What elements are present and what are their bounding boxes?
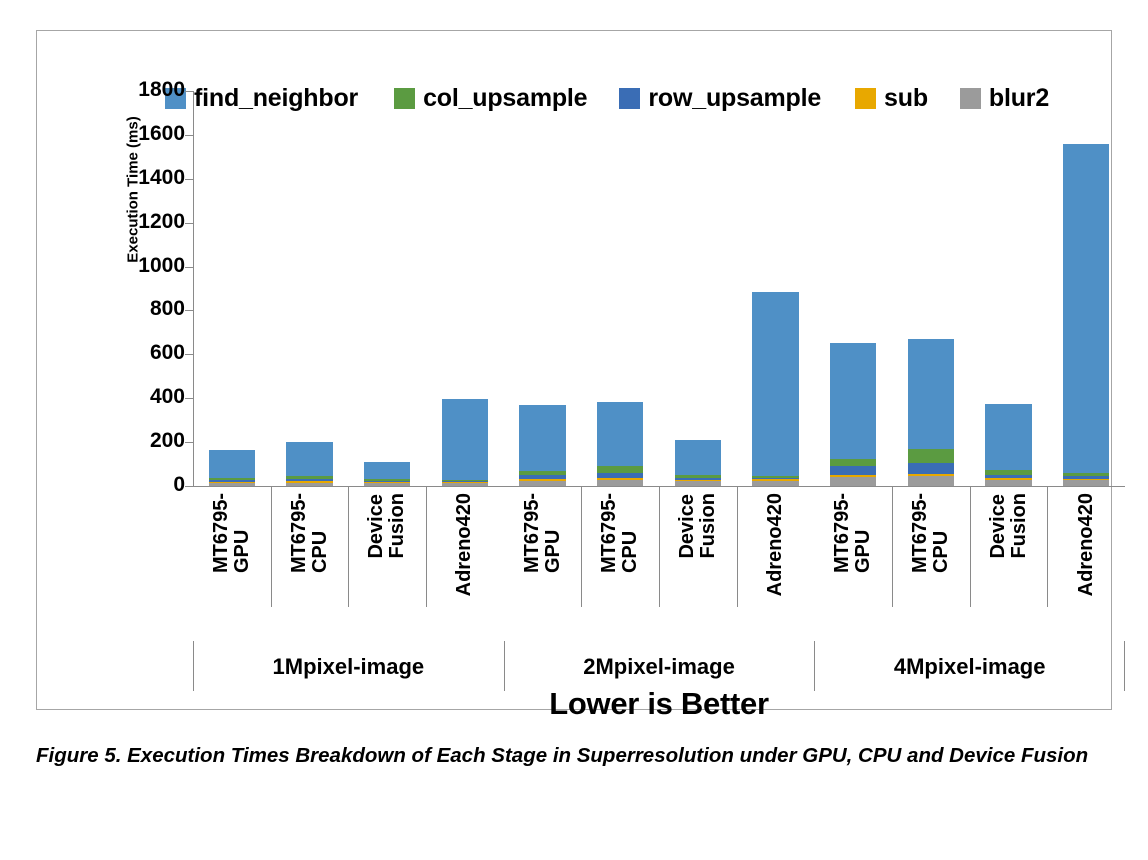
group-label-cell: 4Mpixel-image: [814, 642, 1125, 691]
group-labels-row: 1Mpixel-image2Mpixel-image4Mpixel-image: [193, 642, 1125, 691]
category-label: MT6795- GPU: [522, 493, 564, 573]
bar-segment-row-upsample: [830, 466, 877, 475]
category-separator: [1047, 487, 1048, 607]
bar-slot: [814, 91, 892, 486]
bar-segment-blur2: [209, 483, 256, 487]
category-separator: [271, 487, 272, 607]
bar-segment-find-neighbor: [364, 462, 411, 479]
bar-segment-blur2: [597, 480, 644, 486]
bar-group-4Mpixel-image: [814, 91, 1125, 486]
category-label: MT6795- CPU: [599, 493, 641, 573]
y-tick-mark: [185, 486, 193, 487]
y-tick-mark: [185, 135, 193, 136]
y-tick-mark: [185, 398, 193, 399]
category-separator: [426, 487, 427, 607]
y-tick-mark: [185, 310, 193, 311]
y-tick-mark: [185, 179, 193, 180]
category-group: MT6795- GPUMT6795- CPUDevice FusionAdren…: [504, 487, 815, 642]
bar-segment-find-neighbor: [985, 404, 1032, 470]
category-label: Device Fusion: [988, 493, 1030, 559]
category-separator: [659, 487, 660, 607]
y-tick-mark: [185, 267, 193, 268]
bar-slot: [504, 91, 582, 486]
y-tick-label: 800: [105, 297, 185, 321]
bar-slot: [426, 91, 504, 486]
category-label-cell: Device Fusion: [970, 487, 1048, 642]
bar-segment-find-neighbor: [830, 343, 877, 459]
bar-slot: [892, 91, 970, 486]
category-label-cell: MT6795- CPU: [581, 487, 659, 642]
category-label-cell: Adreno420: [737, 487, 815, 642]
y-tick-label: 400: [105, 385, 185, 409]
category-separator: [892, 487, 893, 607]
group-separator: [193, 641, 194, 691]
y-tick-mark: [185, 223, 193, 224]
plot-area: [193, 91, 1125, 486]
bar-groups: [193, 91, 1125, 486]
bar-segment-blur2: [286, 483, 333, 487]
y-tick-label: 200: [105, 429, 185, 453]
stacked-bar[interactable]: [364, 462, 411, 486]
category-label: Device Fusion: [366, 493, 408, 559]
stacked-bar[interactable]: [830, 343, 877, 486]
stacked-bar[interactable]: [519, 405, 566, 486]
category-label-cell: Adreno420: [1047, 487, 1125, 642]
stacked-bar[interactable]: [675, 440, 722, 486]
bar-segment-blur2: [442, 483, 489, 487]
figure-page: find_neighborcol_upsamplerow_upsamplesub…: [0, 0, 1148, 860]
y-tick-mark: [185, 91, 193, 92]
category-separator: [737, 487, 738, 607]
group-label: 4Mpixel-image: [894, 654, 1046, 680]
category-label-cell: MT6795- GPU: [193, 487, 271, 642]
bar-segment-find-neighbor: [286, 442, 333, 476]
category-label: MT6795- GPU: [832, 493, 874, 573]
category-label: MT6795- CPU: [910, 493, 952, 573]
x-axis-title: Lower is Better: [193, 686, 1125, 722]
category-label-cell: Device Fusion: [659, 487, 737, 642]
category-label: Adreno420: [454, 493, 475, 596]
bar-segment-find-neighbor: [442, 399, 489, 480]
bar-group-1Mpixel-image: [193, 91, 504, 486]
bar-segment-col-upsample: [830, 459, 877, 466]
bar-segment-blur2: [985, 480, 1032, 486]
y-tick-label: 1600: [105, 122, 185, 146]
y-tick-mark: [185, 354, 193, 355]
category-group: MT6795- GPUMT6795- CPUDevice FusionAdren…: [814, 487, 1125, 642]
bar-segment-find-neighbor: [597, 402, 644, 466]
bar-segment-find-neighbor: [1063, 144, 1110, 474]
group-label-cell: 2Mpixel-image: [504, 642, 815, 691]
bar-slot: [271, 91, 349, 486]
bar-segment-row-upsample: [908, 463, 955, 474]
category-label: Adreno420: [1076, 493, 1097, 596]
group-label-cell: 1Mpixel-image: [193, 642, 504, 691]
y-tick-label: 600: [105, 341, 185, 365]
bar-group-2Mpixel-image: [504, 91, 815, 486]
group-separator: [814, 641, 815, 691]
category-separator: [970, 487, 971, 607]
category-label: Device Fusion: [677, 493, 719, 559]
category-label-cell: MT6795- CPU: [892, 487, 970, 642]
stacked-bar[interactable]: [286, 442, 333, 486]
category-separator: [581, 487, 582, 607]
stacked-bar[interactable]: [752, 292, 799, 486]
bar-slot: [193, 91, 271, 486]
y-tick-label: 1800: [105, 78, 185, 102]
bar-slot: [1047, 91, 1125, 486]
group-separator: [1124, 641, 1125, 691]
bar-segment-blur2: [519, 481, 566, 486]
category-label: MT6795- CPU: [289, 493, 331, 573]
bar-segment-blur2: [830, 477, 877, 486]
bar-segment-blur2: [752, 481, 799, 486]
group-label: 2Mpixel-image: [583, 654, 735, 680]
bar-segment-find-neighbor: [519, 405, 566, 471]
bar-slot: [659, 91, 737, 486]
category-label-cell: MT6795- GPU: [814, 487, 892, 642]
bar-slot: [581, 91, 659, 486]
bar-segment-blur2: [364, 483, 411, 486]
category-label-cell: MT6795- CPU: [271, 487, 349, 642]
bar-segment-find-neighbor: [908, 339, 955, 450]
category-labels-row: MT6795- GPUMT6795- CPUDevice FusionAdren…: [193, 487, 1125, 642]
figure-caption: Figure 5. Execution Times Breakdown of E…: [36, 740, 1121, 772]
category-label-cell: Device Fusion: [348, 487, 426, 642]
y-tick-label: 1000: [105, 254, 185, 278]
y-tick-mark: [185, 442, 193, 443]
bar-segment-find-neighbor: [752, 292, 799, 477]
bar-slot: [970, 91, 1048, 486]
group-separator: [504, 641, 505, 691]
category-group: MT6795- GPUMT6795- CPUDevice FusionAdren…: [193, 487, 504, 642]
category-axis: MT6795- GPUMT6795- CPUDevice FusionAdren…: [193, 487, 1125, 691]
category-separator: [348, 487, 349, 607]
bar-segment-find-neighbor: [209, 450, 256, 478]
y-tick-label: 1400: [105, 166, 185, 190]
stacked-bar[interactable]: [985, 404, 1032, 486]
stacked-bar[interactable]: [209, 450, 256, 486]
group-label: 1Mpixel-image: [273, 654, 425, 680]
figure-frame: find_neighborcol_upsamplerow_upsamplesub…: [36, 30, 1112, 710]
bar-segment-find-neighbor: [675, 440, 722, 474]
bar-segment-col-upsample: [908, 449, 955, 463]
bar-segment-blur2: [908, 476, 955, 486]
bar-slot: [737, 91, 815, 486]
y-tick-label: 0: [105, 473, 185, 497]
bar-segment-blur2: [675, 481, 722, 486]
bar-segment-col-upsample: [597, 466, 644, 473]
category-label: Adreno420: [765, 493, 786, 596]
stacked-bar[interactable]: [442, 399, 489, 486]
category-label-cell: Adreno420: [426, 487, 504, 642]
bar-segment-blur2: [1063, 480, 1110, 486]
bar-slot: [348, 91, 426, 486]
stacked-bar[interactable]: [908, 339, 955, 486]
y-tick-label: 1200: [105, 210, 185, 234]
y-axis-tick-labels: 020040060080010001200140016001800: [95, 31, 185, 551]
stacked-bar[interactable]: [597, 402, 644, 486]
category-label: MT6795- GPU: [211, 493, 253, 573]
category-label-cell: MT6795- GPU: [504, 487, 582, 642]
stacked-bar[interactable]: [1063, 144, 1110, 486]
